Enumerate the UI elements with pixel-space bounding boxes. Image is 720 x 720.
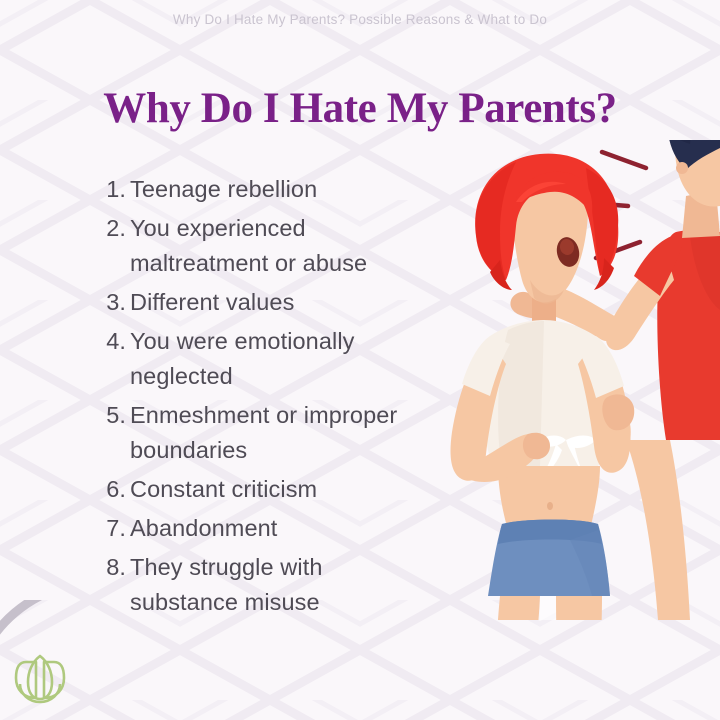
list-item: Teenage rebellion xyxy=(96,172,426,207)
lotus-flower-logo xyxy=(16,656,64,702)
list-item: You were emotionally neglected xyxy=(96,324,426,394)
header-title: Why Do I Hate My Parents? Possible Reaso… xyxy=(173,12,547,27)
brand-arc xyxy=(0,600,128,720)
reasons-list: Teenage rebellion You experienced maltre… xyxy=(96,172,426,624)
list-item: You experienced maltreatment or abuse xyxy=(96,211,426,281)
list-item: Constant criticism xyxy=(96,472,426,507)
young-woman-figure xyxy=(451,154,635,620)
list-item: Different values xyxy=(96,285,426,320)
arguing-mother-and-daughter-illustration xyxy=(390,140,720,620)
page-title: Why Do I Hate My Parents? xyxy=(0,84,720,133)
list-item: Abandonment xyxy=(96,511,426,546)
anger-lines xyxy=(578,152,646,258)
adult-figure xyxy=(510,140,720,620)
list-item: Enmeshment or improper boundaries xyxy=(96,398,426,468)
infographic-canvas: Why Do I Hate My Parents? Possible Reaso… xyxy=(0,0,720,720)
header-bar: Why Do I Hate My Parents? Possible Reaso… xyxy=(0,0,720,38)
brand-mark xyxy=(0,600,160,720)
